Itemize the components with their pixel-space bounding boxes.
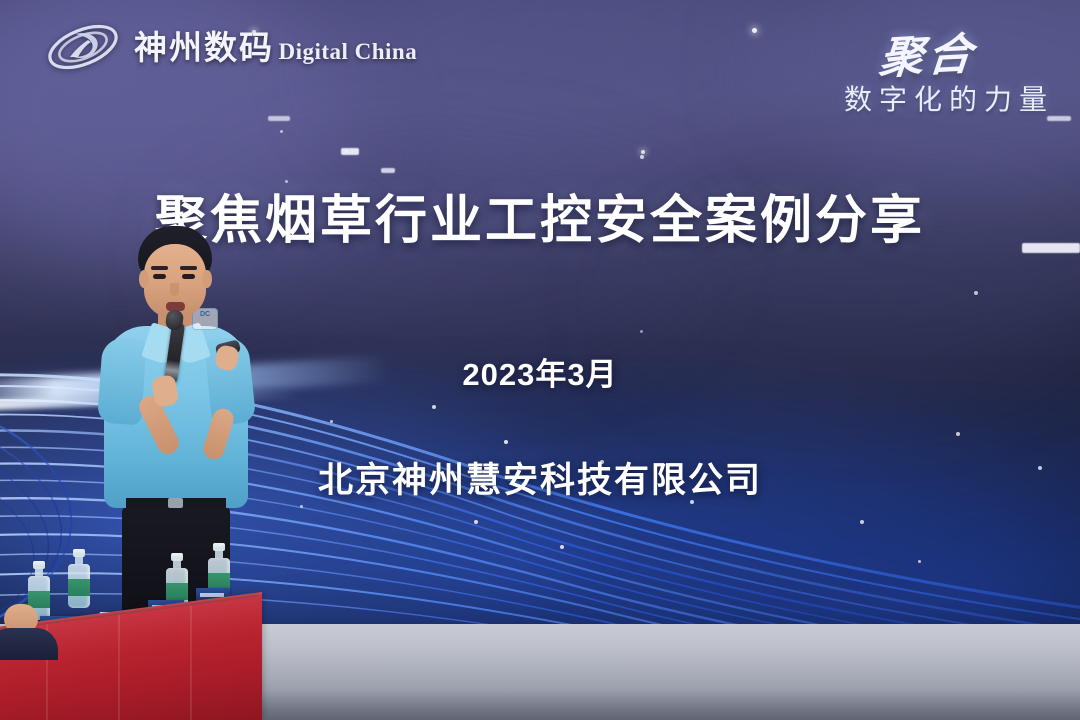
sparkle-particle <box>640 155 644 159</box>
attendee-shoulders <box>0 628 58 660</box>
water-bottle <box>68 550 90 608</box>
sparkle-particle <box>641 150 645 154</box>
cloth-fold <box>190 605 192 720</box>
speaker-ear-left <box>139 270 149 288</box>
digital-china-swirl-icon <box>44 16 122 78</box>
logo-english-name: Digital China <box>278 39 417 64</box>
slogan-headline: 聚合 <box>877 18 979 87</box>
speaker-nose <box>170 283 179 296</box>
bottle-label <box>166 583 188 600</box>
logo-wordmark: 神州数码 Digital China <box>134 31 417 64</box>
slogan-subline: 数字化的力量 <box>844 78 1054 118</box>
conference-stage-photo: 神州数码 Digital China 聚合 数字化的力量 聚焦烟草行业工控安全案… <box>0 0 1080 720</box>
bottle-neck <box>35 567 43 576</box>
panel-light-bar <box>341 148 359 155</box>
sparkle-particle <box>752 28 757 33</box>
cloth-fold <box>118 615 120 720</box>
panel-light-bar <box>381 168 395 173</box>
seated-attendee <box>0 604 58 656</box>
speaker-eyebrow-left <box>151 266 168 270</box>
speaker-eye-right <box>182 274 195 279</box>
speaker-eyebrow-right <box>180 266 197 270</box>
speaker-ear-right <box>202 270 212 288</box>
bottle-label <box>68 579 90 596</box>
bottle-neck <box>215 549 223 558</box>
sparkle-particle <box>974 291 978 295</box>
speaker-sleeve-left <box>97 337 147 426</box>
panel-light-bar <box>268 116 290 121</box>
speaker-belt-buckle <box>168 498 183 508</box>
bottle-neck <box>75 555 83 564</box>
sparkle-particle <box>280 130 283 133</box>
logo-chinese-name: 神州数码 <box>134 29 274 66</box>
event-slogan: 聚合 数字化的力量 <box>844 20 1054 118</box>
digital-china-logo: 神州数码 Digital China <box>44 16 417 78</box>
speaker-eye-left <box>153 274 166 279</box>
bottle-neck <box>173 559 181 568</box>
